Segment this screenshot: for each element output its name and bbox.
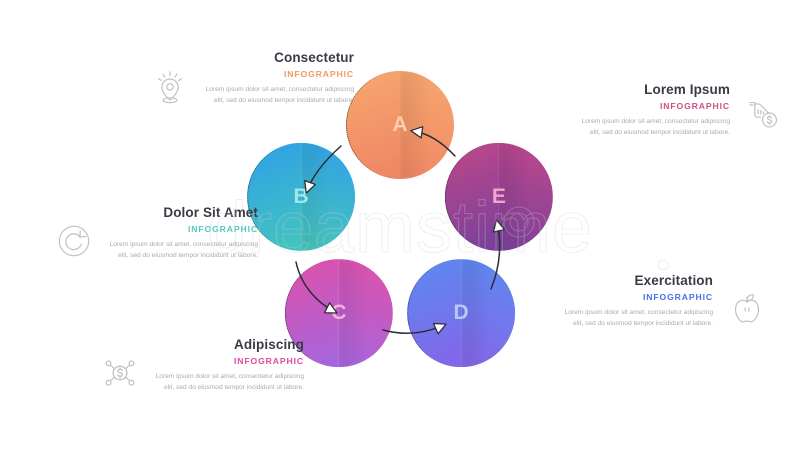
section-e-title: Lorem Ipsum (580, 82, 730, 98)
section-d-body: Lorem ipsum dolor sit amet, consectetur … (563, 307, 713, 330)
apple-icon (725, 287, 769, 331)
section-b-body: Lorem ipsum dolor sit amet, consectetur … (108, 239, 258, 262)
section-a-title: Consectetur (204, 50, 354, 66)
petal-d[interactable]: D (407, 259, 515, 367)
section-block-d[interactable]: Exercitation INFOGRAPHIC Lorem ipsum dol… (563, 273, 769, 331)
hand-coin-icon (742, 92, 786, 136)
petal-d-letter: D (407, 259, 515, 367)
section-b-title: Dolor Sit Amet (108, 205, 258, 221)
petal-b-letter: B (247, 143, 355, 251)
petal-a[interactable]: A (346, 71, 454, 179)
petal-e-letter: E (445, 143, 553, 251)
section-c-title: Adipiscing (154, 337, 304, 353)
section-a-subtitle: INFOGRAPHIC (204, 69, 354, 79)
section-e-subtitle: INFOGRAPHIC (580, 101, 730, 111)
section-block-e[interactable]: Lorem Ipsum INFOGRAPHIC Lorem ipsum dolo… (580, 82, 786, 138)
section-d-subtitle: INFOGRAPHIC (563, 292, 713, 302)
dollar-network-icon (98, 351, 142, 395)
section-e-body: Lorem ipsum dolor sit amet, consectetur … (580, 116, 730, 139)
section-d-title: Exercitation (563, 273, 713, 289)
petal-b[interactable]: B (247, 143, 355, 251)
section-block-b[interactable]: Dolor Sit Amet INFOGRAPHIC Lorem ipsum d… (52, 205, 258, 263)
section-block-a[interactable]: Consectetur INFOGRAPHIC Lorem ipsum dolo… (148, 50, 354, 108)
petal-e[interactable]: E (445, 143, 553, 251)
rotate-counterclockwise-icon (52, 219, 96, 263)
section-block-c[interactable]: Adipiscing INFOGRAPHIC Lorem ipsum dolor… (98, 337, 304, 395)
location-pin-icon (148, 64, 192, 108)
section-b-subtitle: INFOGRAPHIC (108, 224, 258, 234)
petal-a-letter: A (346, 71, 454, 179)
section-a-body: Lorem ipsum dolor sit amet, consectetur … (204, 84, 354, 107)
section-c-subtitle: INFOGRAPHIC (154, 356, 304, 366)
section-c-body: Lorem ipsum dolor sit amet, consectetur … (154, 371, 304, 394)
infographic-canvas: A B (0, 0, 800, 450)
